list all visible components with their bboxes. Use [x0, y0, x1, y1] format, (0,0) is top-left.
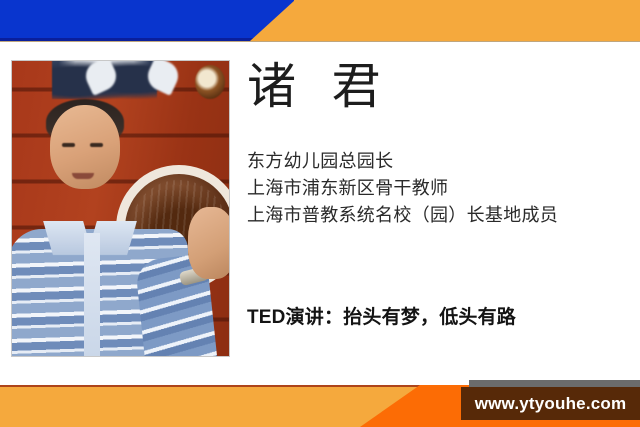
speaker-photo [11, 60, 230, 357]
speaker-credentials: 东方幼儿园总园长 上海市浦东新区骨干教师 上海市普教系统名校（园）长基地成员 [247, 148, 558, 229]
speaker-name: 诸 君 [247, 63, 392, 112]
credential-line-2: 上海市浦东新区骨干教师 [247, 175, 558, 202]
orange-band-diagonal-shape [250, 0, 640, 41]
antler-decoration-icon [52, 60, 157, 99]
antler-right-icon [143, 60, 183, 96]
credential-line-1: 东方幼儿园总园长 [247, 148, 558, 175]
shirt-placket [84, 233, 100, 357]
photo-background-wooden-wall [12, 61, 229, 356]
watermark: www.ytyouhe.com [461, 380, 640, 420]
credential-line-3: 上海市普教系统名校（园）长基地成员 [247, 202, 558, 229]
watermark-url-text: www.ytyouhe.com [461, 387, 640, 420]
blue-band-shape [0, 0, 300, 41]
mouth [72, 173, 94, 179]
speaker-profile-poster: 诸 君 东方幼儿园总园长 上海市浦东新区骨干教师 上海市普教系统名校（园）长基地… [0, 0, 640, 427]
top-band-shadow-line [0, 41, 640, 42]
eye-left [62, 143, 75, 147]
top-decorative-band [0, 0, 640, 41]
watermark-cap-bar [469, 380, 640, 387]
ted-talk-title: TED演讲：抬头有梦，低头有路 [247, 302, 516, 329]
antler-left-icon [81, 60, 121, 96]
hand [188, 207, 230, 279]
eye-right [90, 143, 103, 147]
wall-ornament-icon [195, 65, 225, 99]
